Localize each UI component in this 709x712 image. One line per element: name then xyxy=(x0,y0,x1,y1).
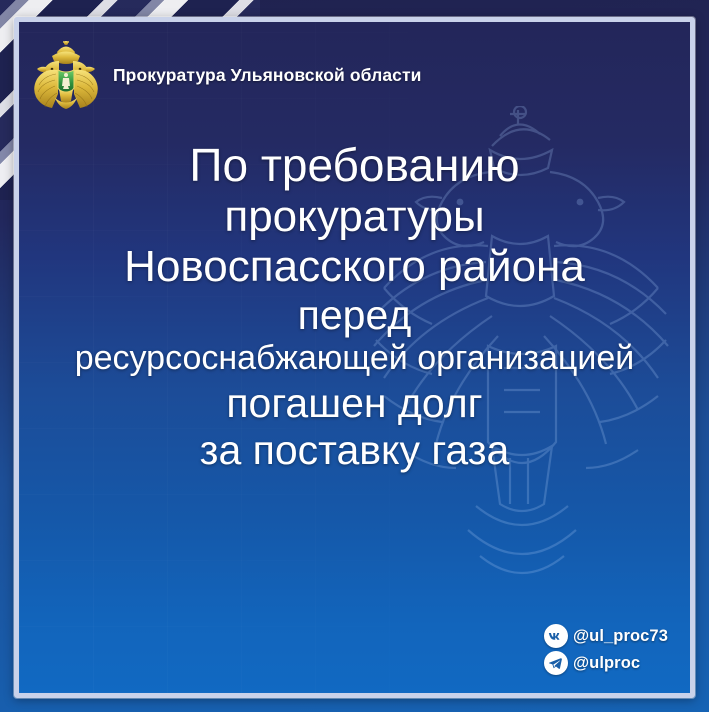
social-row-vk[interactable]: @ul_proc73 xyxy=(544,624,668,648)
poster-canvas: Прокуратура Ульяновской области По требо… xyxy=(0,0,709,712)
vk-icon[interactable] xyxy=(544,624,568,648)
telegram-handle[interactable]: @ulproc xyxy=(573,654,640,673)
social-row-telegram[interactable]: @ulproc xyxy=(544,651,640,675)
headline-line-4: перед xyxy=(27,293,682,338)
header: Прокуратура Ульяновской области xyxy=(33,38,676,112)
headline-line-2: прокуратуры xyxy=(27,193,682,241)
telegram-icon[interactable] xyxy=(544,651,568,675)
organization-name: Прокуратура Ульяновской области xyxy=(113,65,422,86)
headline-line-6: погашен долг xyxy=(27,381,682,426)
headline-line-7: за поставку газа xyxy=(27,428,682,473)
headline-line-3: Новоспасского района xyxy=(27,243,682,291)
social-handles: @ul_proc73 @ulproc xyxy=(544,624,668,675)
headline-line-1: По требованию xyxy=(27,140,682,191)
russian-prosecutor-eagle-emblem-icon xyxy=(33,40,99,110)
headline-text: По требованию прокуратуры Новоспасского … xyxy=(27,140,682,475)
poster-frame: Прокуратура Ульяновской области По требо… xyxy=(14,17,695,698)
vk-handle[interactable]: @ul_proc73 xyxy=(573,627,668,646)
headline-line-5: ресурсоснабжающей организацией xyxy=(27,340,682,377)
